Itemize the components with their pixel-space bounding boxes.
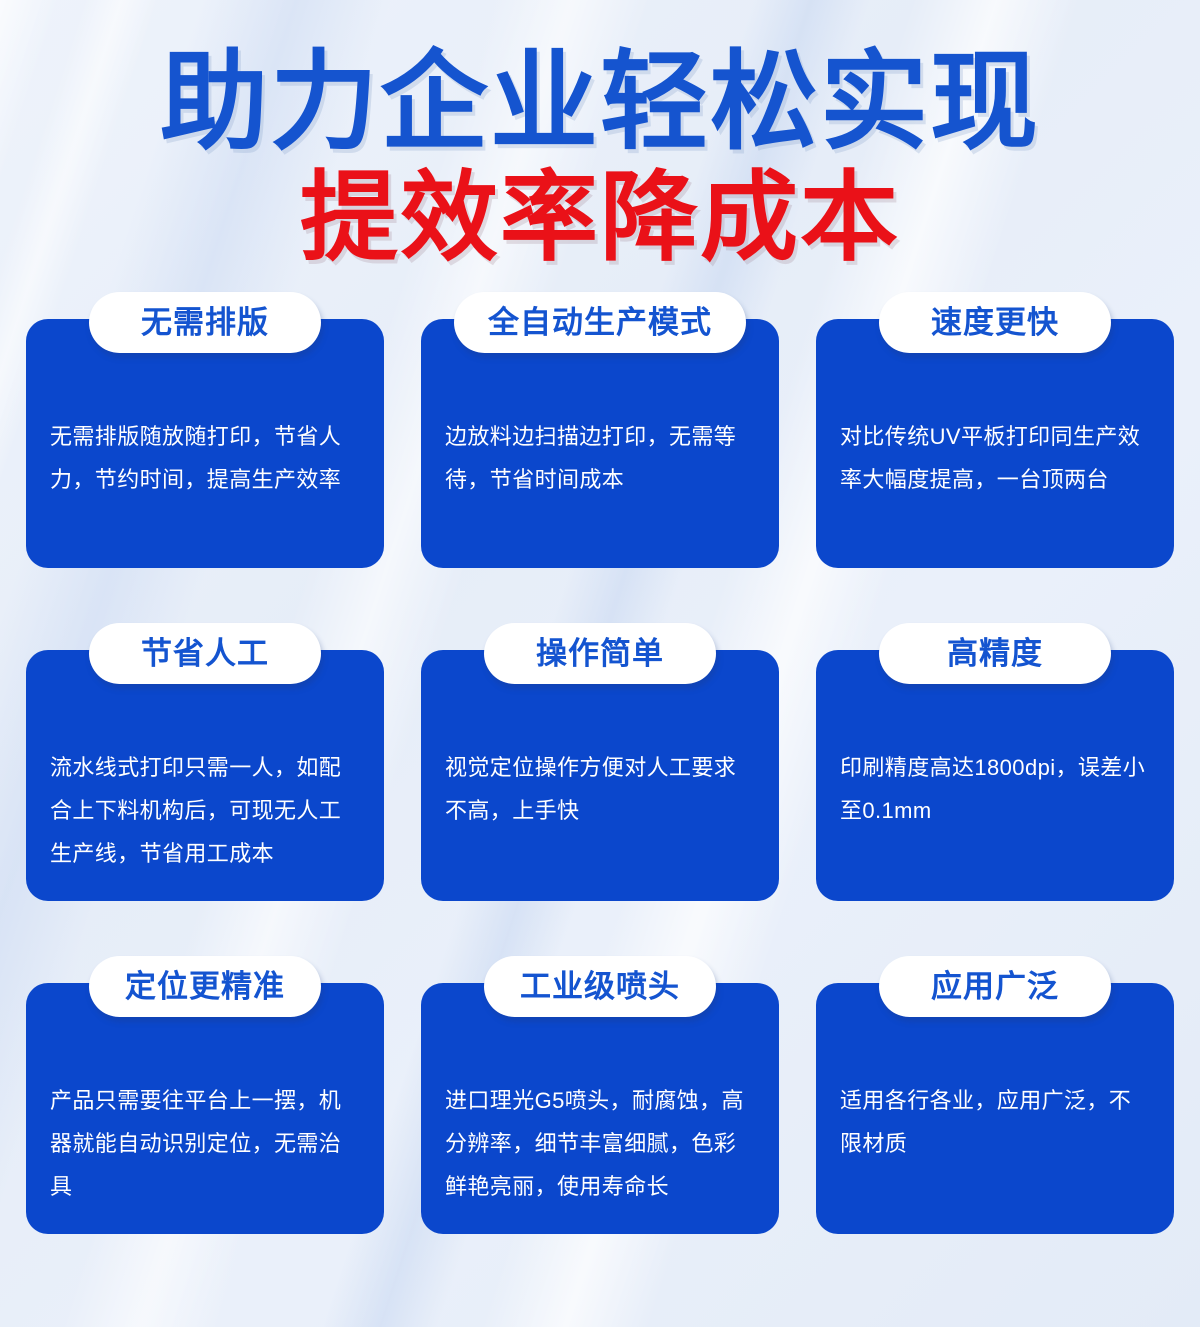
headline-line-1: 助力企业轻松实现 [0,38,1200,165]
poster-page: 助力企业轻松实现 提效率降成本 无需排版 无需排版随放随打印，节省人力，节约时间… [0,0,1200,1327]
feature-card[interactable]: 操作简单 视觉定位操作方便对人工要求不高，上手快 [421,650,779,901]
feature-card-badge: 定位更精准 [89,956,321,1017]
feature-card[interactable]: 高精度 印刷精度高达1800dpi，误差小至0.1mm [816,650,1174,901]
feature-card[interactable]: 全自动生产模式 边放料边扫描边打印，无需等待，节省时间成本 [421,319,779,568]
feature-card-badge: 无需排版 [89,292,321,353]
feature-card-body: 对比传统UV平板打印同生产效率大幅度提高，一台顶两台 [840,415,1150,501]
feature-card[interactable]: 定位更精准 产品只需要往平台上一摆，机器就能自动识别定位，无需治具 [26,983,384,1234]
feature-card-badge: 全自动生产模式 [454,292,746,353]
feature-card-title: 速度更快 [931,307,1059,338]
feature-card[interactable]: 速度更快 对比传统UV平板打印同生产效率大幅度提高，一台顶两台 [816,319,1174,568]
feature-card-body: 产品只需要往平台上一摆，机器就能自动识别定位，无需治具 [50,1079,360,1208]
feature-card-body: 进口理光G5喷头，耐腐蚀，高分辨率，细节丰富细腻，色彩鲜艳亮丽，使用寿命长 [445,1079,755,1208]
feature-card[interactable]: 无需排版 无需排版随放随打印，节省人力，节约时间，提高生产效率 [26,319,384,568]
feature-card-body: 无需排版随放随打印，节省人力，节约时间，提高生产效率 [50,415,360,501]
feature-card-badge: 操作简单 [484,623,716,684]
feature-card-title: 工业级喷头 [520,971,680,1002]
feature-card-title: 节省人工 [141,638,269,669]
feature-card-body: 边放料边扫描边打印，无需等待，节省时间成本 [445,415,755,501]
feature-card-body: 适用各行各业，应用广泛，不限材质 [840,1079,1150,1165]
feature-card-badge: 应用广泛 [879,956,1111,1017]
headline-line-2: 提效率降成本 [0,161,1200,275]
feature-card-badge: 节省人工 [89,623,321,684]
feature-card-title: 应用广泛 [931,971,1059,1002]
headline-block: 助力企业轻松实现 提效率降成本 [0,0,1200,275]
feature-card-title: 操作简单 [536,638,664,669]
feature-card[interactable]: 节省人工 流水线式打印只需一人，如配合上下料机构后，可现无人工生产线，节省用工成… [26,650,384,901]
feature-card-grid: 无需排版 无需排版随放随打印，节省人力，节约时间，提高生产效率 全自动生产模式 … [26,319,1175,1234]
feature-card[interactable]: 应用广泛 适用各行各业，应用广泛，不限材质 [816,983,1174,1234]
feature-card-title: 定位更精准 [125,971,285,1002]
feature-card-badge: 速度更快 [879,292,1111,353]
feature-card-badge: 工业级喷头 [484,956,716,1017]
feature-card-title: 无需排版 [141,307,269,338]
feature-card-body: 视觉定位操作方便对人工要求不高，上手快 [445,746,755,832]
feature-card-body: 印刷精度高达1800dpi，误差小至0.1mm [840,746,1150,832]
feature-card[interactable]: 工业级喷头 进口理光G5喷头，耐腐蚀，高分辨率，细节丰富细腻，色彩鲜艳亮丽，使用… [421,983,779,1234]
feature-card-title: 高精度 [947,638,1043,669]
feature-card-title: 全自动生产模式 [488,307,712,338]
feature-card-body: 流水线式打印只需一人，如配合上下料机构后，可现无人工生产线，节省用工成本 [50,746,360,875]
feature-card-badge: 高精度 [879,623,1111,684]
